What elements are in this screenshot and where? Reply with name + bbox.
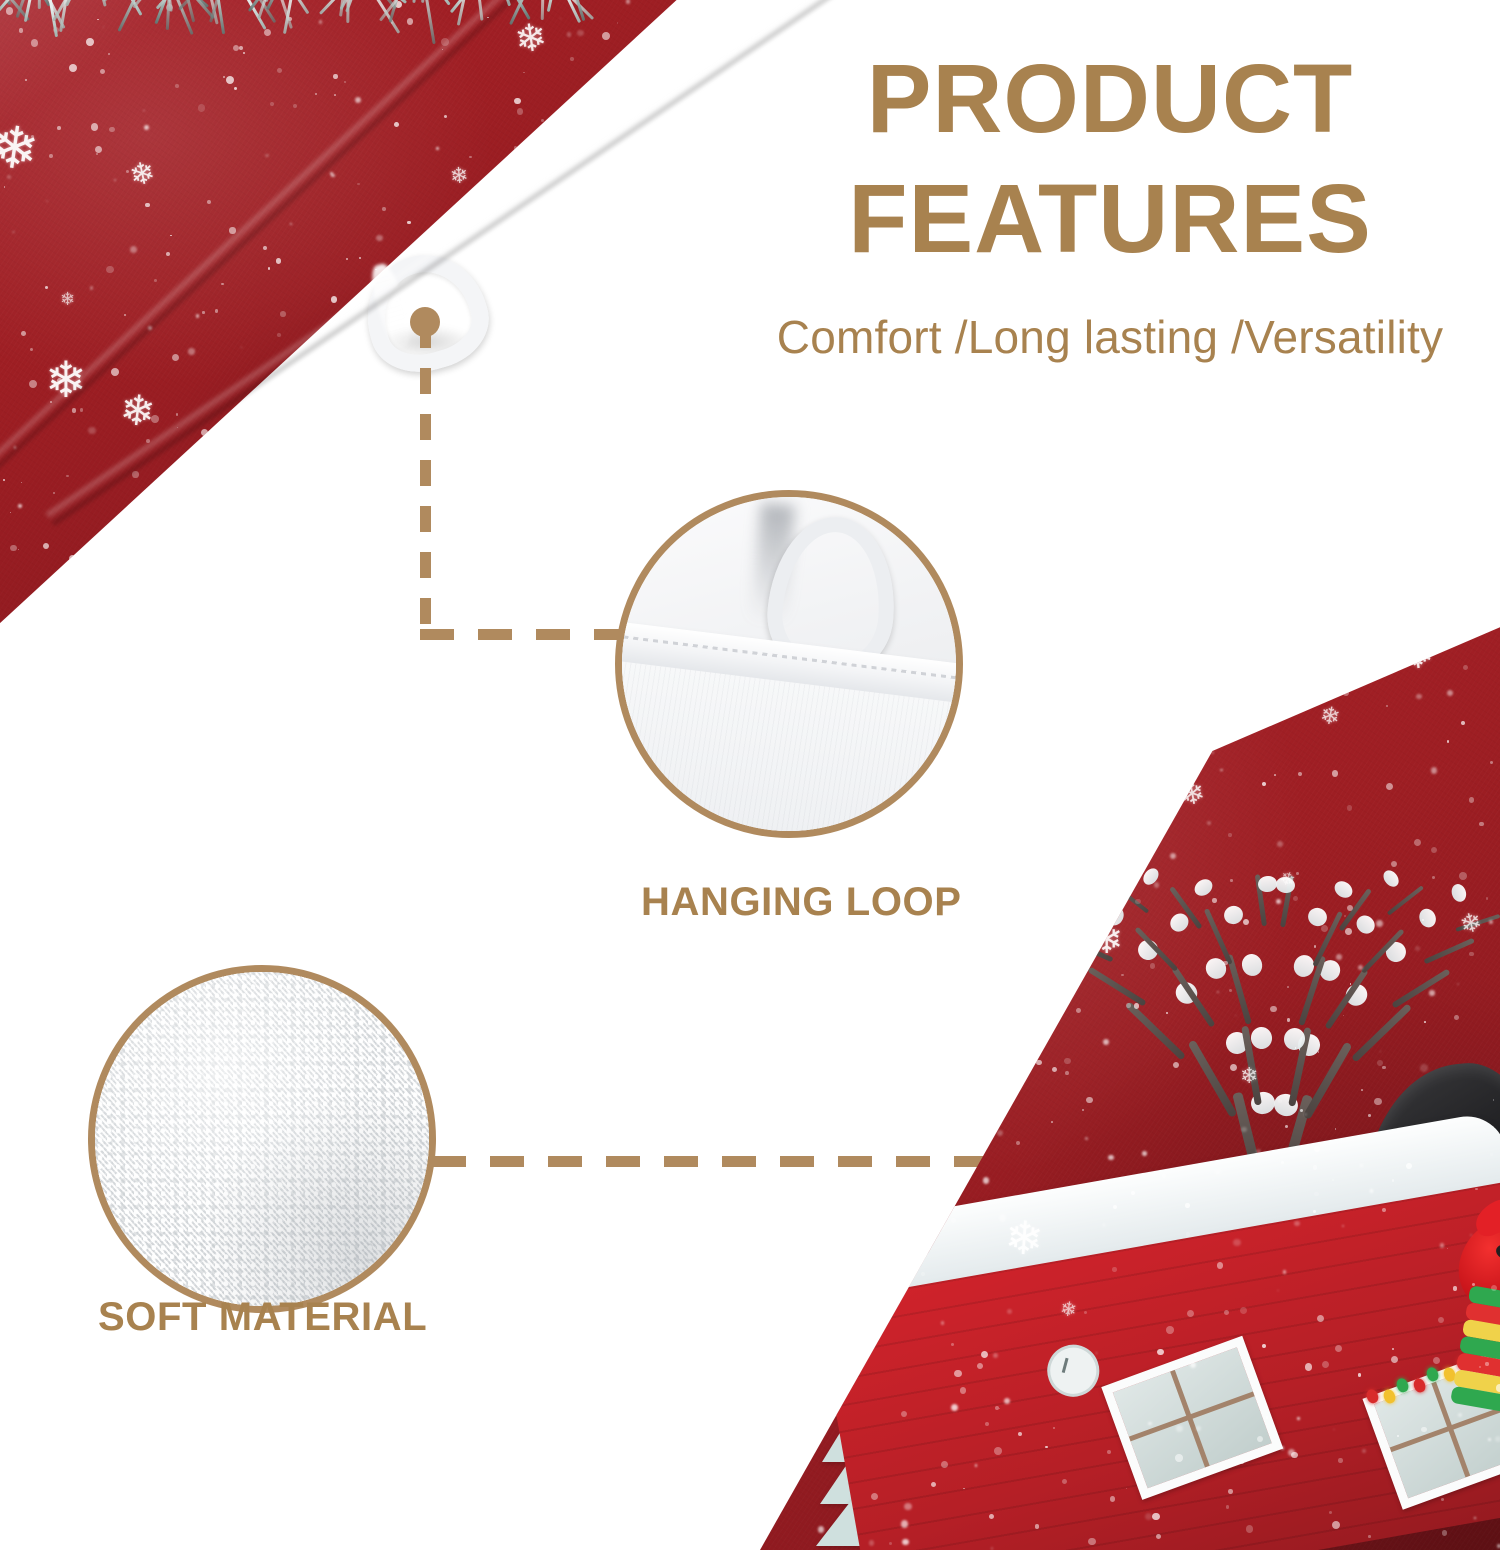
snow-speck [1281, 1161, 1284, 1164]
snow-speck [359, 257, 361, 259]
snow-speck [1457, 983, 1459, 985]
callout-hanging-loop [615, 490, 963, 838]
snow-speck [1104, 744, 1110, 750]
snow-speck [91, 123, 98, 130]
snow-speck [977, 1363, 983, 1369]
snow-speck [1224, 1310, 1229, 1315]
snow-speck [779, 868, 784, 873]
snow-speck [1062, 629, 1067, 634]
snow-speck [862, 1198, 864, 1200]
snow-speck [378, 601, 383, 606]
snow-speck [504, 328, 509, 333]
snow-speck [236, 606, 240, 610]
snow-speck [764, 1185, 770, 1191]
snow-speck [1051, 1121, 1053, 1123]
snow-speck [226, 76, 234, 84]
snow-speck [280, 636, 284, 640]
snow-speck [820, 842, 826, 848]
snow-speck [382, 207, 386, 211]
snow-speck [1447, 740, 1449, 742]
snow-speck [327, 420, 328, 421]
snow-speck [951, 1343, 954, 1346]
snowflake-icon: ❄ [938, 1119, 972, 1158]
snow-speck [281, 448, 288, 455]
snow-speck [344, 81, 346, 83]
snow-speck [679, 0, 686, 3]
snow-speck [1332, 770, 1338, 776]
snow-speck [4, 186, 6, 188]
snow-speck [1175, 1454, 1183, 1462]
snow-speck [1207, 821, 1211, 825]
snow-speck [202, 311, 204, 313]
snow-speck [997, 1130, 1003, 1136]
snow-speck [455, 657, 461, 660]
snow-speck [436, 147, 438, 149]
snow-speck [594, 585, 597, 588]
snow-speck [1424, 1021, 1426, 1023]
snow-speck [1126, 1488, 1127, 1489]
snow-speck [333, 74, 337, 78]
snow-speck [1459, 872, 1467, 880]
snow-speck [867, 1314, 868, 1315]
snow-speck [1240, 1460, 1244, 1464]
snow-speck [132, 522, 133, 523]
snow-speck [1303, 662, 1307, 666]
snow-speck [166, 530, 173, 537]
snow-speck [1216, 1170, 1220, 1174]
snow-speck [176, 614, 179, 617]
snow-speck [1062, 1479, 1067, 1484]
snow-speck [1266, 1416, 1268, 1418]
snow-speck [97, 591, 102, 596]
snow-speck [1067, 1310, 1070, 1313]
snow-speck [520, 363, 525, 368]
snow-speck [1235, 1015, 1237, 1017]
snow-speck [1317, 1315, 1324, 1322]
snow-speck [135, 626, 138, 629]
snow-speck [699, 268, 703, 272]
snow-speck [791, 1455, 797, 1461]
snow-speck [1087, 816, 1088, 817]
snow-speck [25, 79, 27, 81]
snow-speck [1219, 690, 1226, 697]
snow-speck [164, 568, 169, 573]
snow-speck [1406, 1163, 1412, 1169]
snow-speck [233, 462, 235, 464]
snow-speck [1469, 797, 1475, 803]
snow-speck [969, 1139, 972, 1142]
snow-speck [507, 460, 515, 468]
pine-needle [38, 0, 41, 9]
snow-speck [166, 252, 170, 256]
snow-speck [510, 441, 513, 444]
snow-speck [1458, 1413, 1462, 1417]
snow-speck [821, 1065, 827, 1071]
snow-speck [1140, 640, 1147, 647]
connector-line-horizontal-hanging-loop [420, 629, 625, 640]
snow-speck [21, 331, 26, 336]
snow-speck [647, 38, 648, 39]
snow-speck [1270, 1006, 1277, 1013]
snow-speck [1256, 1149, 1261, 1154]
snow-speck [143, 110, 144, 111]
snow-speck [644, 81, 649, 86]
snow-speck [1229, 989, 1232, 992]
snow-speck [132, 471, 138, 477]
snow-speck [154, 279, 157, 282]
snow-speck [1475, 1188, 1477, 1190]
snow-speck [974, 1058, 978, 1062]
snow-speck [1336, 954, 1341, 959]
snow-speck [1472, 1283, 1475, 1286]
snow-speck [1295, 1047, 1296, 1048]
snow-speck [818, 1526, 825, 1533]
snow-speck [514, 287, 515, 288]
snow-speck [125, 555, 127, 557]
snowflake-icon: ❄ [852, 1037, 887, 1076]
snow-speck [1170, 853, 1176, 859]
snow-speck [1300, 1109, 1303, 1112]
snow-speck [494, 260, 502, 268]
snow-speck [797, 986, 800, 989]
snow-speck [1382, 1208, 1386, 1212]
snow-speck [72, 408, 76, 412]
snow-speck [263, 246, 267, 250]
snow-speck [474, 454, 475, 455]
snow-speck [618, 295, 620, 297]
snow-speck [80, 408, 83, 411]
snow-speck [793, 1468, 797, 1472]
snow-speck [1420, 1064, 1427, 1071]
snow-speck [1358, 1373, 1361, 1376]
snow-speck [1322, 1361, 1329, 1368]
snow-speck [538, 418, 542, 422]
snow-speck [1157, 1349, 1163, 1355]
snow-speck [330, 527, 334, 531]
snow-speck [1103, 1224, 1105, 1226]
snow-speck [1062, 796, 1069, 803]
snow-speck [1039, 834, 1043, 838]
snow-speck [394, 644, 396, 646]
snow-speck [378, 605, 386, 613]
snow-speck [475, 488, 481, 494]
snow-speck [1474, 1517, 1476, 1519]
snow-speck [809, 1374, 816, 1381]
snow-speck [1391, 861, 1397, 867]
snow-speck [1243, 919, 1249, 925]
snow-speck [1414, 839, 1421, 846]
snow-speck [10, 512, 11, 513]
snow-speck [901, 1520, 909, 1528]
snow-speck [1278, 1099, 1282, 1103]
snow-speck [257, 534, 263, 540]
snow-speck [207, 200, 211, 204]
snow-speck [648, 201, 652, 205]
snow-speck [460, 543, 466, 549]
connector-line-soft-material [432, 1156, 1012, 1167]
snow-speck [1217, 991, 1219, 993]
snow-speck [1011, 1089, 1014, 1092]
snow-speck [95, 146, 102, 153]
snow-speck [1015, 753, 1019, 757]
snow-speck [242, 559, 247, 564]
snow-speck [1142, 1151, 1146, 1155]
callout-label-hanging-loop: HANGING LOOP [641, 880, 962, 925]
snow-speck [1064, 1058, 1070, 1064]
snow-speck [1021, 874, 1025, 878]
page-title-line-2: FEATURES [760, 168, 1460, 270]
snow-speck [1176, 748, 1183, 755]
snow-speck [1391, 1356, 1398, 1363]
snow-speck [1211, 751, 1214, 754]
snow-speck [503, 453, 506, 456]
snow-speck [772, 949, 774, 951]
snow-speck [945, 1117, 949, 1121]
snow-speck [1347, 905, 1353, 911]
snow-speck [973, 1123, 975, 1125]
snow-speck [1190, 1362, 1196, 1368]
snow-speck [570, 57, 574, 61]
snow-speck [1187, 1310, 1194, 1317]
tree-branch [1038, 912, 1083, 930]
snow-speck [994, 923, 997, 926]
snow-speck [1496, 1384, 1500, 1392]
snow-speck [1405, 1494, 1406, 1495]
snow-speck [897, 1230, 902, 1235]
snow-speck [315, 93, 317, 95]
snow-speck [1113, 1205, 1117, 1209]
snow-speck [975, 1464, 977, 1466]
snow-speck [1454, 1015, 1459, 1020]
snow-speck [1283, 1270, 1287, 1274]
snow-speck [646, 426, 653, 433]
snow-speck [1314, 945, 1316, 947]
snow-speck [799, 1128, 800, 1129]
snow-speck [1166, 1012, 1168, 1014]
snow-speck [1479, 1366, 1480, 1367]
snow-speck [363, 386, 368, 391]
snow-speckles [0, 0, 720, 660]
snow-speck [1368, 1535, 1371, 1538]
snow-speck [1382, 1066, 1386, 1070]
snow-speck [1347, 805, 1353, 811]
snow-speck [434, 557, 439, 562]
snow-speck [1453, 1286, 1458, 1291]
snow-speck [1162, 1174, 1166, 1178]
snow-speck [196, 314, 199, 317]
snow-speck [1274, 635, 1281, 642]
snow-speck [201, 429, 208, 436]
snow-speck [587, 224, 593, 230]
snow-speck [10, 545, 17, 552]
snow-speck [891, 945, 895, 949]
snow-speck [1002, 769, 1007, 774]
snow-speck [885, 1259, 893, 1267]
snow-speck [614, 154, 620, 160]
snow-speck [1492, 1126, 1494, 1128]
snow-speck [1362, 1449, 1366, 1453]
snow-speck [966, 1073, 972, 1079]
snow-speck [1335, 1345, 1342, 1352]
snow-speck [277, 68, 283, 74]
snow-speck [867, 976, 872, 981]
snow-speck [45, 286, 48, 289]
callout-soft-material [88, 965, 436, 1313]
snow-speck [534, 387, 540, 393]
branch-snow-cap [1076, 880, 1095, 901]
snow-speck [1332, 1179, 1334, 1181]
snow-speck [298, 404, 299, 405]
snow-speck [277, 333, 281, 337]
snow-speck [941, 1321, 945, 1325]
snow-speck [581, 95, 583, 97]
snow-speck [773, 1394, 775, 1396]
snow-speck [1285, 1125, 1289, 1129]
snow-speck [215, 309, 219, 313]
snow-speck [130, 246, 137, 253]
snow-speck [188, 348, 194, 354]
snow-speck [517, 108, 523, 114]
snow-speck [31, 135, 35, 139]
snow-speck [870, 1050, 874, 1054]
snow-speck [33, 655, 38, 660]
snow-speck [1344, 915, 1346, 917]
snow-speck [1329, 1511, 1332, 1514]
snow-speck [999, 667, 1007, 675]
snow-speck [90, 286, 94, 290]
snow-speck [1230, 1064, 1237, 1071]
snow-speck [1034, 685, 1039, 690]
snow-speck [1154, 882, 1159, 887]
snowflake-icon: ❄ [257, 558, 280, 583]
snow-speck [1485, 1362, 1488, 1365]
snow-speck [407, 221, 410, 224]
snow-speck [268, 267, 270, 269]
snow-speck [330, 172, 333, 175]
snow-speck [508, 364, 513, 369]
snow-speck [1240, 1307, 1247, 1314]
snow-speck [371, 499, 376, 504]
snow-speck [1442, 1530, 1448, 1536]
snow-speck [896, 841, 901, 846]
snow-speck [1156, 1534, 1161, 1539]
snow-speck [523, 408, 529, 414]
snow-speck [827, 1233, 830, 1236]
snow-speck [1335, 1128, 1337, 1130]
snow-speck [574, 120, 576, 122]
snow-speck [229, 227, 235, 233]
snow-speck [617, 22, 619, 24]
snow-speck [613, 472, 618, 477]
snow-speck [989, 1514, 994, 1519]
pine-needle [412, 0, 418, 4]
infographic-canvas: ❄❄❄❄❄❄❄❄❄❄❄❄❄❄ PRODUCT FEATURES Comfort … [0, 0, 1500, 1500]
snow-speck [950, 1003, 954, 1007]
snow-speck [0, 622, 5, 628]
snow-speck [523, 72, 525, 74]
snow-speck [1043, 781, 1051, 789]
snow-speck [1217, 1262, 1224, 1269]
snow-speck [669, 327, 676, 334]
snow-speck [1110, 856, 1113, 859]
snowflake-icon: ❄ [820, 970, 837, 990]
snow-speck [869, 1540, 875, 1546]
snow-speck [1045, 1446, 1047, 1448]
snow-speck [1479, 822, 1484, 827]
snow-speck [977, 835, 980, 838]
snow-speck [402, 627, 403, 628]
snow-speck [1438, 1317, 1444, 1323]
snow-speck [1035, 1524, 1039, 1528]
snow-speck [96, 153, 98, 155]
snow-speck [1298, 772, 1302, 776]
snow-speck [1463, 665, 1468, 670]
snow-speck [1486, 897, 1488, 899]
snow-speck [151, 415, 159, 423]
snow-speck [1233, 1239, 1240, 1246]
snow-speck [1321, 925, 1328, 932]
snow-speck [57, 126, 61, 130]
snow-speck [1186, 1232, 1191, 1237]
snow-speck [1107, 1450, 1111, 1454]
snow-speck [671, 485, 678, 492]
snow-speck [172, 354, 179, 361]
snow-speck [88, 427, 95, 434]
snow-speck [251, 423, 257, 429]
snow-speck [715, 105, 717, 107]
snow-speck [1241, 1127, 1247, 1133]
snow-speck [1377, 1060, 1383, 1066]
snow-speck [243, 52, 245, 54]
snow-speck [241, 347, 242, 348]
snow-speck [1104, 913, 1106, 915]
snow-speck [1220, 769, 1223, 772]
snow-speck [521, 370, 524, 373]
snow-speck [572, 498, 579, 505]
snow-speck [877, 1239, 881, 1243]
snow-speck [290, 223, 292, 225]
snow-speck [921, 1272, 925, 1276]
page-title-line-1: PRODUCT [760, 48, 1460, 150]
snow-speck [931, 1482, 937, 1488]
pine-needle [379, 0, 426, 22]
snow-speck [66, 475, 69, 478]
snow-speck [410, 567, 417, 574]
snow-speck [1076, 1008, 1081, 1013]
snow-speck [442, 475, 447, 480]
snow-speck [1313, 1210, 1316, 1213]
snow-speck [379, 654, 381, 656]
snow-speck [994, 1447, 1002, 1455]
snow-speck [1197, 710, 1205, 718]
snow-speck [1016, 1141, 1020, 1145]
snow-speck [49, 154, 53, 158]
snow-speck [951, 1218, 956, 1223]
snow-speck [911, 1072, 919, 1080]
pine-needle [339, 0, 368, 10]
snow-speck [1397, 1435, 1399, 1437]
connector-line-vertical-hanging-loop [420, 322, 431, 640]
snow-speck [144, 125, 149, 130]
snow-speck [1415, 946, 1420, 951]
snow-speck [834, 996, 837, 999]
snow-speck [1431, 847, 1437, 853]
snow-speck [707, 0, 714, 3]
snow-speck [1226, 1505, 1230, 1509]
snow-speck [615, 110, 616, 111]
snow-speck [1080, 683, 1084, 687]
snow-speck [1281, 1446, 1284, 1449]
